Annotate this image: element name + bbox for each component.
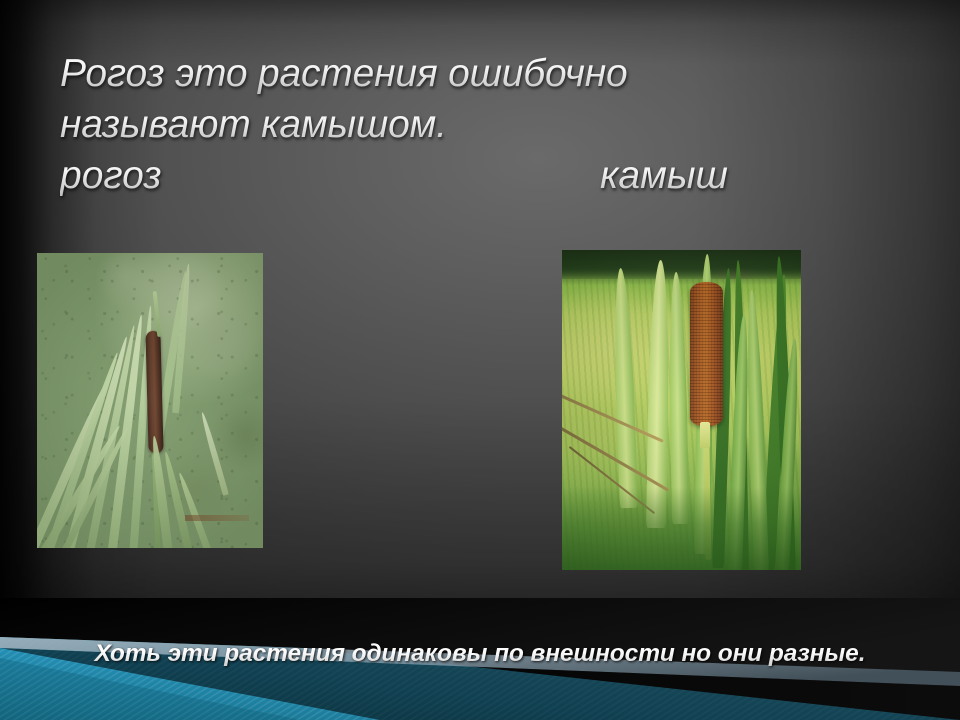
title-line-1: Рогоз это растения ошибочно: [60, 48, 920, 99]
photo-rogoz[interactable]: [37, 253, 263, 548]
photo-kamysh[interactable]: [562, 250, 801, 570]
plant-label-row: рогоз камыш: [60, 150, 920, 201]
label-rogoz: рогоз: [60, 150, 162, 201]
photo-kamysh-canvas: [562, 250, 801, 570]
title-line-2: называют камышом.: [60, 99, 920, 150]
slide-caption: Хоть эти растения одинаковы по внешности…: [0, 639, 960, 669]
label-kamysh: камыш: [600, 150, 728, 201]
presentation-slide: Рогоз это растения ошибочно называют кам…: [0, 0, 960, 720]
title-block: Рогоз это растения ошибочно называют кам…: [60, 48, 920, 201]
photo-soft-wash: [37, 253, 263, 548]
photo-rogoz-canvas: [37, 253, 263, 548]
photo-soft-wash: [562, 250, 801, 570]
